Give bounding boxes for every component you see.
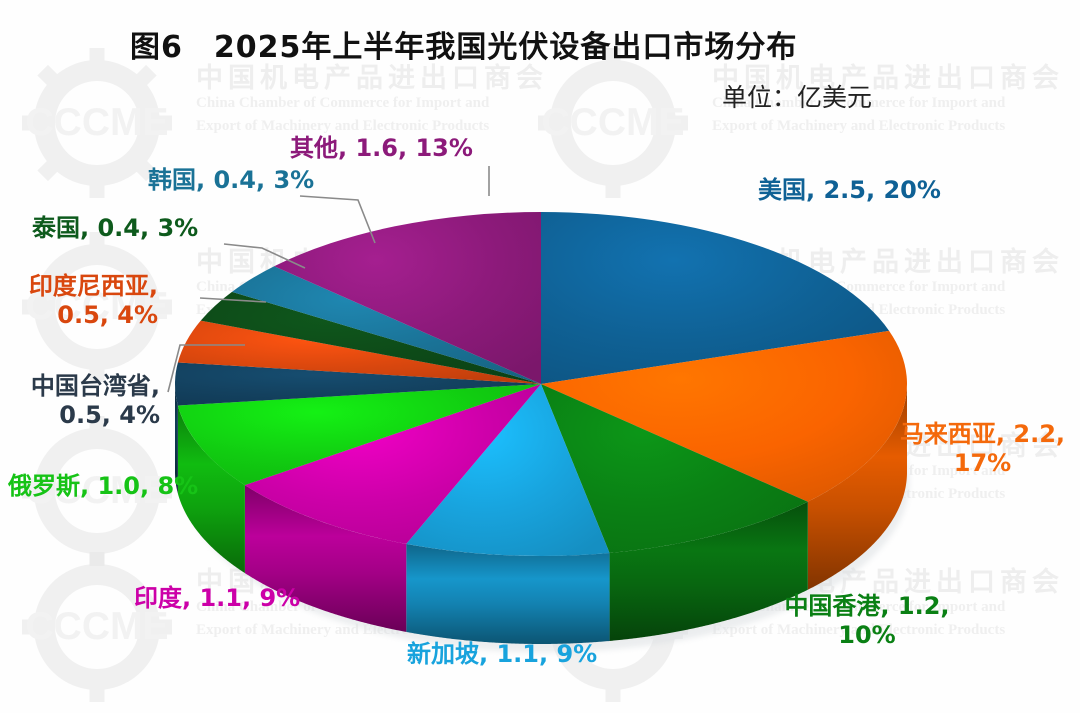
data-label-hongkong-line1: 中国香港, 1.2, [752,592,982,621]
data-label-russia-text: 俄罗斯, 1.0, 8% [8,472,198,500]
data-label-malaysia: 马来西亚, 2.2, 17% [890,420,1075,479]
data-label-korea: 韩国, 0.4, 3% [148,166,314,195]
data-label-thailand: 泰国, 0.4, 3% [32,214,198,243]
data-label-other: 其他, 1.6, 13% [290,134,473,163]
data-label-india-text: 印度, 1.1, 9% [134,584,300,612]
data-label-thailand-text: 泰国, 0.4, 3% [32,214,198,242]
data-label-taiwan-line2: 0.5, 4% [0,401,160,430]
data-label-malaysia-line1: 马来西亚, 2.2, [890,420,1075,449]
data-label-singapore-text: 新加坡, 1.1, 9% [407,640,597,668]
data-label-korea-text: 韩国, 0.4, 3% [148,166,314,194]
chart-canvas: CCCME 中国机电产品进出口商会 China Chamber of Comme… [0,0,1080,713]
data-label-indonesia-line1: 印度尼西亚, [0,272,158,301]
page-title: 图6 2025年上半年我国光伏设备出口市场分布 [130,22,797,66]
data-label-russia: 俄罗斯, 1.0, 8% [8,472,198,501]
data-label-singapore: 新加坡, 1.1, 9% [407,640,597,669]
data-label-indonesia: 印度尼西亚, 0.5, 4% [0,272,158,331]
chart-unit-label: 单位：亿美元 [722,78,872,114]
data-label-other-text: 其他, 1.6, 13% [290,134,473,162]
data-label-indonesia-line2: 0.5, 4% [0,301,158,330]
data-label-malaysia-line2: 17% [890,449,1075,478]
data-label-taiwan: 中国台湾省, 0.5, 4% [0,372,160,431]
data-label-us-text: 美国, 2.5, 20% [758,176,941,204]
data-label-hongkong: 中国香港, 1.2, 10% [752,592,982,651]
data-label-taiwan-line1: 中国台湾省, [0,372,160,401]
data-label-us: 美国, 2.5, 20% [758,176,941,205]
data-label-india: 印度, 1.1, 9% [134,584,300,613]
data-label-hongkong-line2: 10% [752,621,982,650]
